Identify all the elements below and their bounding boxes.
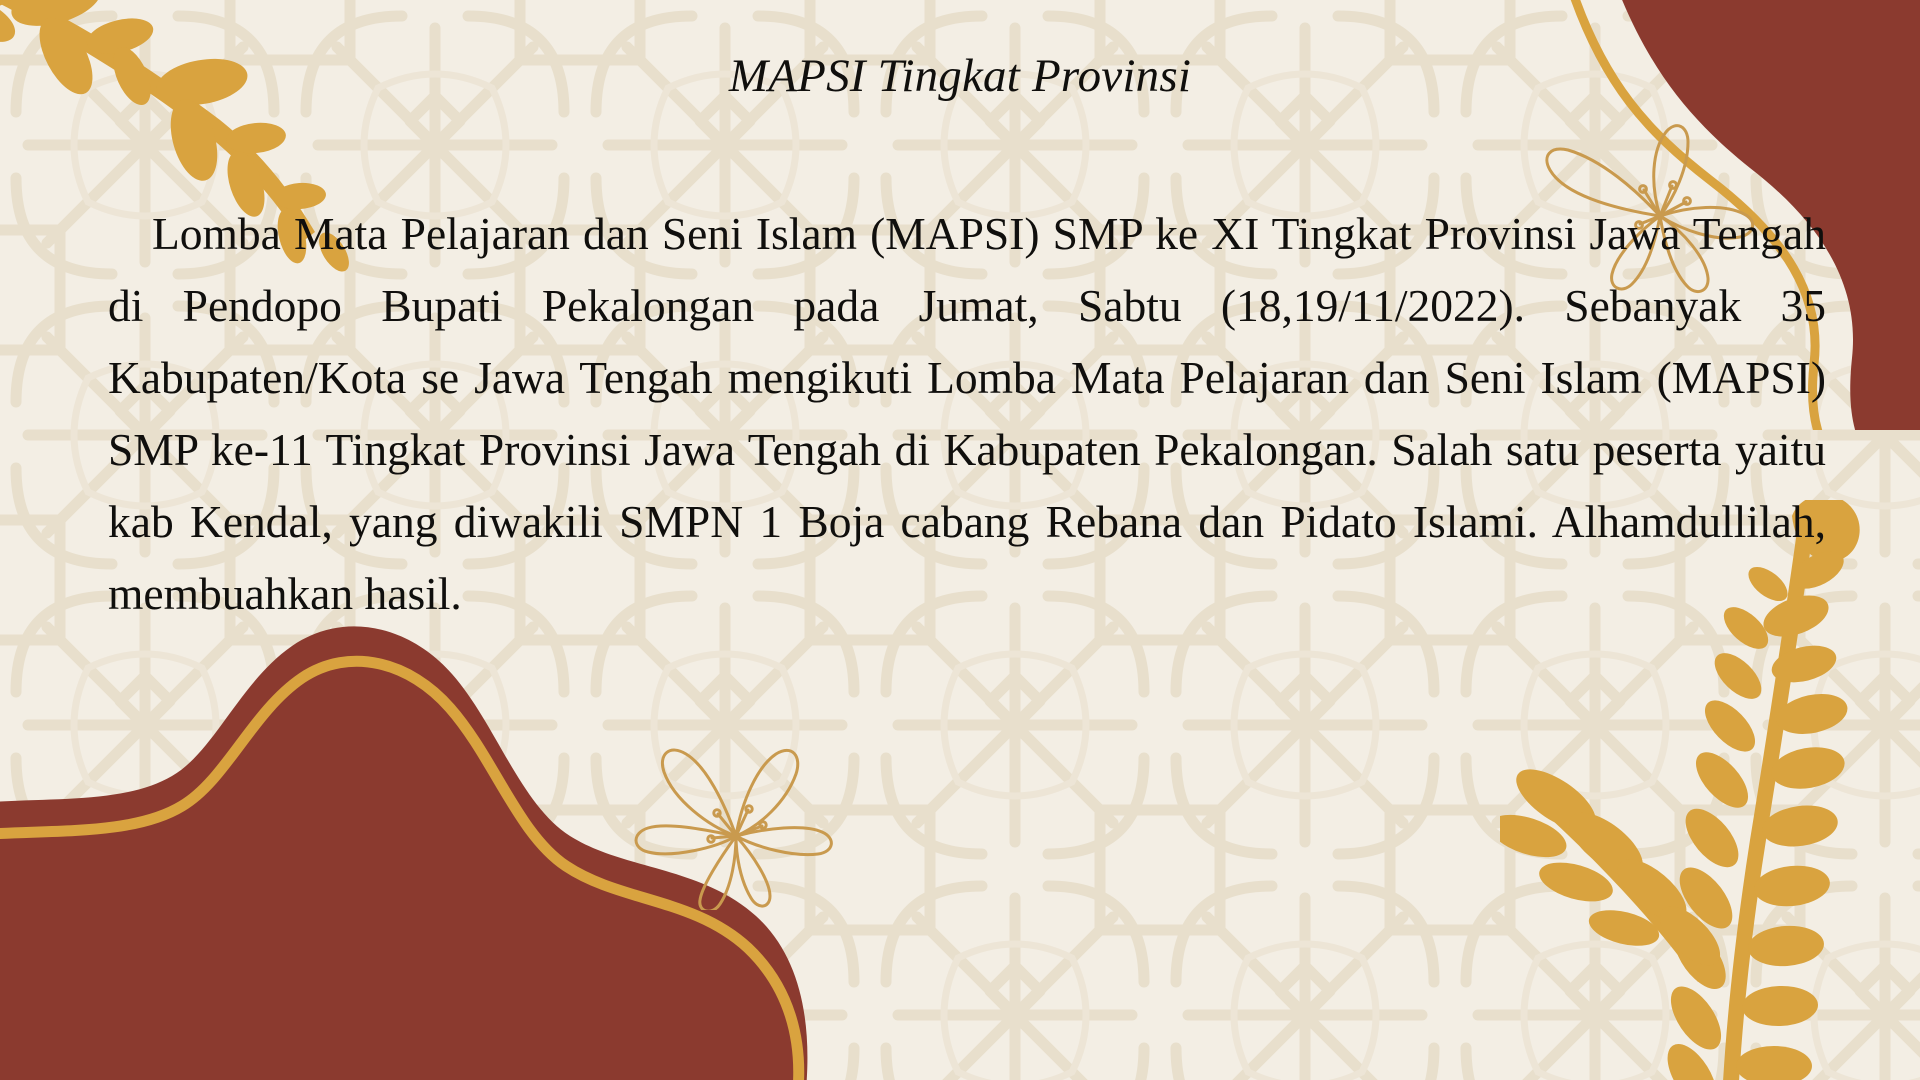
body-paragraph: Lomba Mata Pelajaran dan Seni Islam (MAP…: [108, 198, 1826, 630]
slide-content: MAPSI Tingkat Provinsi Lomba Mata Pelaja…: [0, 0, 1920, 1080]
slide-canvas: MAPSI Tingkat Provinsi Lomba Mata Pelaja…: [0, 0, 1920, 1080]
page-title: MAPSI Tingkat Provinsi: [0, 48, 1920, 104]
